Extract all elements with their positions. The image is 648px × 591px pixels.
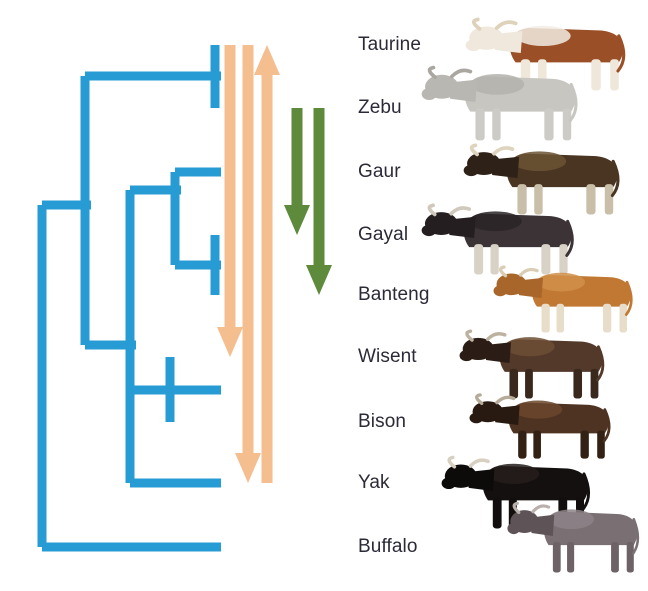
arrow-zebu-to-gayal-shaft xyxy=(292,108,303,205)
tip-label-bison: Bison xyxy=(358,412,406,431)
arrow-zebu-to-gayal-head xyxy=(284,205,310,235)
tip-label-yak: Yak xyxy=(358,473,390,492)
arrow-up-to-taurine-head xyxy=(254,45,280,75)
introgression-arrows-layer xyxy=(0,0,648,591)
arrow-zebu-to-gayal xyxy=(284,108,310,235)
arrow-up-to-taurine-shaft xyxy=(262,75,273,483)
tip-label-taurine: Taurine xyxy=(358,35,421,54)
arrow-taurine-to-wisent-shaft xyxy=(225,45,236,327)
arrow-zebu-to-banteng-shaft xyxy=(314,108,325,265)
tip-label-zebu: Zebu xyxy=(358,98,402,117)
tip-label-gaur: Gaur xyxy=(358,162,401,181)
arrow-taurine-to-yak-shaft xyxy=(243,45,254,453)
arrow-taurine-to-yak xyxy=(235,45,261,483)
tip-label-banteng: Banteng xyxy=(358,285,430,304)
tip-label-gayal: Gayal xyxy=(358,225,408,244)
arrow-taurine-to-yak-head xyxy=(235,453,261,483)
tip-label-buffalo: Buffalo xyxy=(358,537,418,556)
arrow-taurine-to-wisent-head xyxy=(217,327,243,357)
arrow-taurine-to-wisent xyxy=(217,45,243,357)
arrow-zebu-to-banteng-head xyxy=(306,265,332,295)
arrow-up-to-taurine xyxy=(254,45,280,483)
figure-canvas: TaurineZebuGaurGayalBantengWisentBisonYa… xyxy=(0,0,648,591)
arrow-zebu-to-banteng xyxy=(306,108,332,295)
tip-label-wisent: Wisent xyxy=(358,347,417,366)
